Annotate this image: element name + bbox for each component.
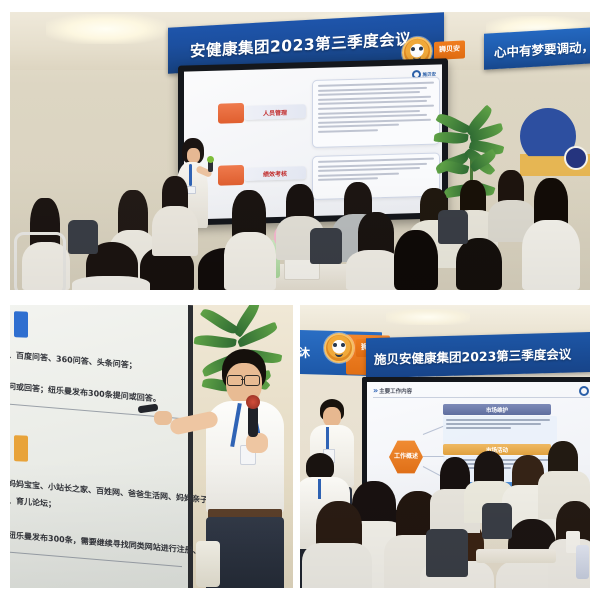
br-slide-header: » 主要工作内容 [373,386,412,395]
audience-body [72,276,150,290]
bl-slide-line-2: 问或回答；纽乐曼发布300条提问或回答。 [10,382,161,406]
slide-label-performance: 绩效考核 [244,166,306,181]
br-conference-banner-text: 施贝安健康集团2023第三季度会议 [374,343,571,368]
br-connector-line [423,456,445,457]
br-ceiling-light [386,309,470,325]
slide-label-personnel: 人员管理 [244,104,306,120]
br-hexagon-work-overview: 工作概述 [389,440,423,474]
br-banner-left-text: 沐 [300,343,310,360]
slogan-banner-right-text: 心中有梦要调动，全 [494,35,590,61]
chair-frame [14,232,66,290]
lion-icon [324,333,354,363]
wall-art-small-circle [564,146,588,170]
slide-label-tab-orange-2 [218,165,244,186]
br-ribbon-1-text: 市场维护 [486,406,508,414]
slide-label-performance-text: 绩效考核 [263,169,287,179]
bl-projection-screen: 、百度问答、360问答、头条问答； 问或回答；纽乐曼发布300条提问或回答。 妈… [10,305,193,588]
bl-slide-line-4: 、育儿论坛； [10,496,56,511]
br-conference-banner: 施贝安健康集团2023第三季度会议 [366,332,590,378]
double-chevron-right-icon: » [373,386,376,395]
bl-accent-blue [14,311,28,338]
slide-label-personnel-text: 人员管理 [263,107,287,117]
br-bottle [576,545,589,579]
bl-bottle [196,541,220,587]
br-ribbon-1-body [443,416,557,446]
br-ribbon-market-maintenance: 市场维护 [443,404,551,415]
audience-body [152,206,198,256]
panel-bottom-right-audience: 沐 狮贝安 施贝安健康集团2023第三季度会议 » 主要工作内容 工 [300,305,590,588]
br-slide-header-divider [373,397,590,398]
office-chair-back [438,210,468,244]
audience-head [394,230,438,290]
audience-head [456,238,502,290]
br-slide-header-text: 主要工作内容 [379,387,412,395]
br-audience-body [302,543,372,588]
ceiling-light-left [46,14,166,44]
br-office-chair [482,503,512,539]
audience-body [224,232,276,290]
br-hexagon-text: 工作概述 [394,453,418,460]
photo-collage: 安健康集团2023第三季度会议 狮贝安 心中有梦要调动，全 施贝安 人员管理 [0,0,600,600]
slide-text-card-upper [312,76,440,148]
wall-circle-artwork [520,108,590,180]
mascot-brand-plate: 狮贝安 [434,41,465,60]
br-meeting-table [476,549,556,563]
audience-body [522,220,580,290]
office-chair-back [310,228,342,264]
slogan-banner-right: 心中有梦要调动，全 [484,26,590,69]
br-office-chair [426,529,468,577]
bl-accent-orange [14,435,28,462]
slide-text-card-lower [312,152,440,200]
office-chair-back [68,220,98,254]
panel-bottom-left-speaker: 、百度问答、360问答、头条问答； 问或回答；纽乐曼发布300条提问或回答。 妈… [10,305,293,588]
bl-slide-line-1: 、百度问答、360问答、头条问答； [10,350,137,372]
br-slide-logo-ring-icon [579,386,589,396]
panel-top-conference-room: 安健康集团2023第三季度会议 狮贝安 心中有梦要调动，全 施贝安 人员管理 [10,12,590,290]
slide-label-tab-orange [218,103,244,124]
conference-banner-main-text: 安健康集团2023第三季度会议 [190,27,411,61]
